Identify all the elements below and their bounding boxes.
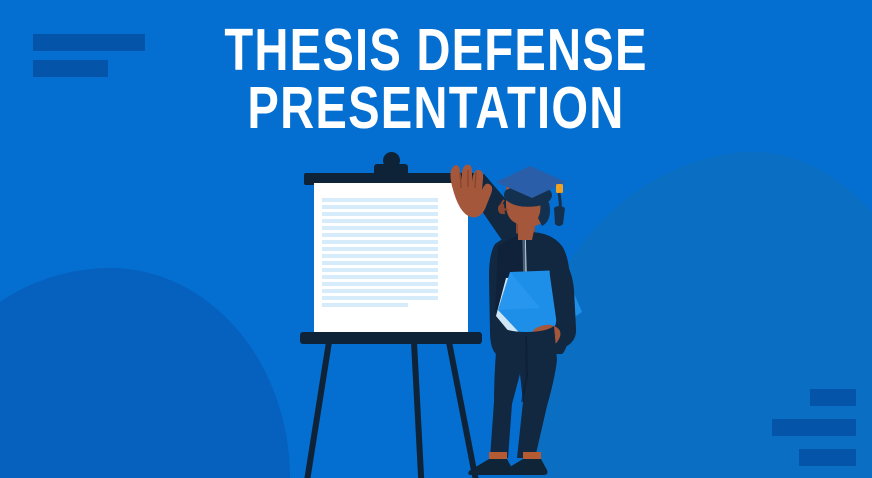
- sock-left: [489, 452, 507, 459]
- chart-text-line: [322, 212, 438, 216]
- bottom-right-bar-1: [810, 389, 856, 406]
- chart-text-line: [322, 219, 438, 223]
- chart-text-line: [322, 289, 438, 293]
- title-line-2: PRESENTATION: [87, 80, 785, 138]
- chart-text-line: [322, 254, 438, 258]
- chart-text-line: [322, 296, 438, 300]
- chart-text-line: [322, 226, 438, 230]
- chart-text-line: [322, 268, 438, 272]
- legs: [490, 326, 557, 458]
- sock-right: [523, 452, 541, 459]
- chart-text-line: [322, 247, 438, 251]
- chart-text-line: [322, 233, 438, 237]
- slide-canvas: THESIS DEFENSE PRESENTATION: [0, 0, 872, 478]
- chart-text-line: [322, 282, 438, 286]
- bottom-right-bar-3: [799, 449, 856, 466]
- chart-text-line: [322, 275, 438, 279]
- chart-text-line: [322, 205, 438, 209]
- easel-leg-middle: [411, 342, 431, 478]
- flip-chart-text-lines: [322, 198, 438, 307]
- bottom-right-bar-2: [772, 419, 856, 436]
- chart-text-line: [322, 240, 438, 244]
- graduate-student-presenter: [440, 160, 620, 478]
- page-title: THESIS DEFENSE PRESENTATION: [0, 22, 872, 138]
- background-blob-left: [0, 268, 290, 478]
- tassel-button: [556, 184, 563, 193]
- title-line-1: THESIS DEFENSE: [87, 22, 785, 80]
- chart-text-line: [322, 261, 438, 265]
- chart-text-line-last: [322, 303, 408, 307]
- easel-leg-left: [281, 342, 332, 478]
- chart-text-line: [322, 198, 438, 202]
- tassel: [554, 206, 565, 226]
